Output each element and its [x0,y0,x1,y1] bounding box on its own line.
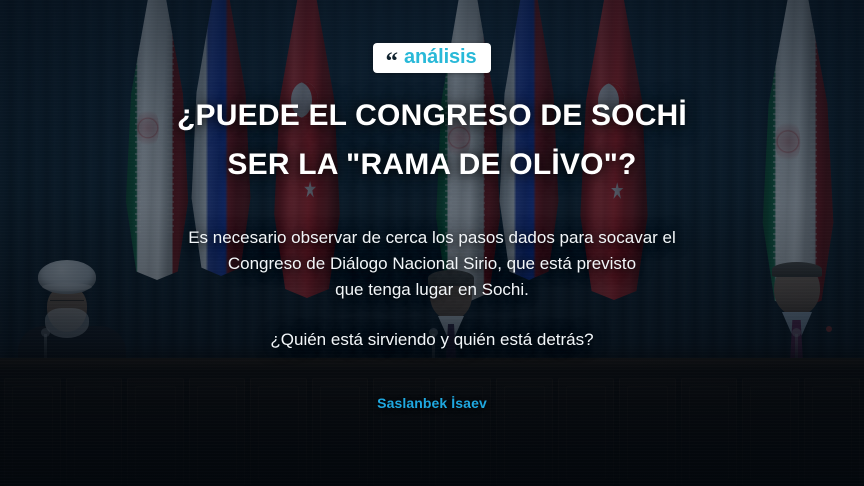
article-summary: Es necesario observar de cerca los pasos… [188,225,676,353]
article-hero-banner: “ análisis ¿PUEDE EL CONGRESO DE SOCHİ S… [0,0,864,486]
summary-line-1: Es necesario observar de cerca los pasos… [188,225,676,251]
summary-question: ¿Quién está sirviendo y quién está detrá… [188,327,676,353]
summary-line-3: que tenga lugar en Sochi. [188,277,676,303]
author-byline[interactable]: Saslanbek İsaev [377,395,487,411]
summary-line-2: Congreso de Diálogo Nacional Sirio, que … [188,251,676,277]
category-badge-label: análisis [404,47,477,68]
headline-line-2: SER LA "RAMA DE OLİVO"? [177,140,687,189]
hero-content: “ análisis ¿PUEDE EL CONGRESO DE SOCHİ S… [0,0,864,486]
quote-icon: “ [385,54,397,70]
category-badge-analisis[interactable]: “ análisis [373,43,490,73]
headline-line-1: ¿PUEDE EL CONGRESO DE SOCHİ [177,91,687,140]
page-title: ¿PUEDE EL CONGRESO DE SOCHİ SER LA "RAMA… [177,91,687,189]
